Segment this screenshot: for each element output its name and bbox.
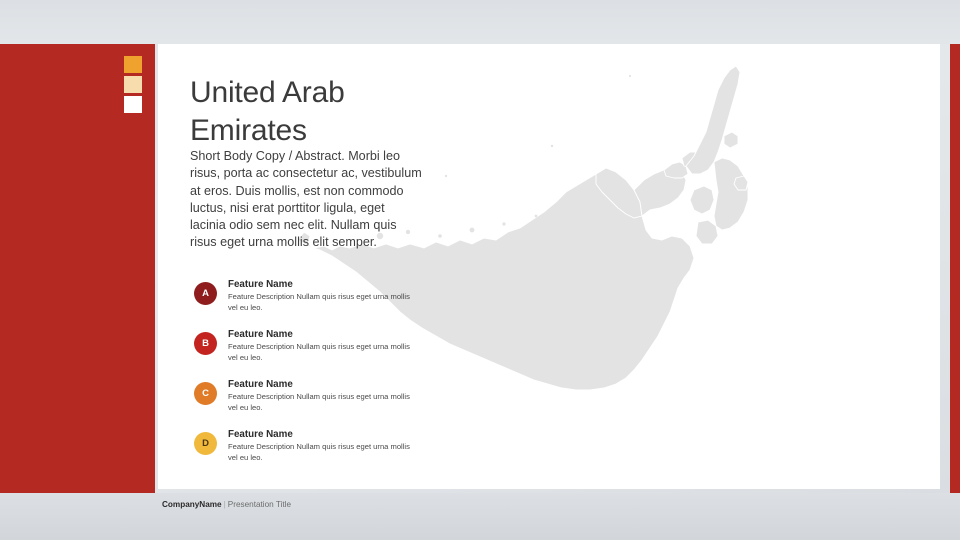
square-orange-icon bbox=[124, 56, 142, 73]
background-top-band bbox=[0, 0, 960, 44]
list-item[interactable]: D Feature Name Feature Description Nulla… bbox=[194, 428, 424, 478]
feature-name: Feature Name bbox=[228, 428, 413, 441]
page-title: United Arab Emirates bbox=[190, 74, 450, 150]
feature-description: Feature Description Nullam quis risus eg… bbox=[228, 442, 413, 463]
footer: CompanyName|Presentation Title bbox=[162, 500, 291, 509]
presentation-slide: United Arab Emirates Short Body Copy / A… bbox=[0, 0, 960, 540]
feature-name: Feature Name bbox=[228, 378, 413, 391]
feature-name: Feature Name bbox=[228, 328, 413, 341]
footer-company: CompanyName bbox=[162, 500, 222, 509]
feature-badge-b: B bbox=[194, 332, 217, 355]
feature-text: Feature Name Feature Description Nullam … bbox=[228, 378, 413, 413]
body-copy: Short Body Copy / Abstract. Morbi leo ri… bbox=[190, 148, 422, 252]
feature-description: Feature Description Nullam quis risus eg… bbox=[228, 342, 413, 363]
feature-list: A Feature Name Feature Description Nulla… bbox=[194, 278, 424, 478]
square-peach-icon bbox=[124, 76, 142, 93]
square-white-icon bbox=[124, 96, 142, 113]
feature-text: Feature Name Feature Description Nullam … bbox=[228, 278, 413, 313]
feature-badge-c: C bbox=[194, 382, 217, 405]
feature-name: Feature Name bbox=[228, 278, 413, 291]
right-red-edge bbox=[950, 44, 960, 493]
feature-badge-a: A bbox=[194, 282, 217, 305]
background-bottom-band bbox=[0, 493, 960, 540]
feature-description: Feature Description Nullam quis risus eg… bbox=[228, 392, 413, 413]
decorative-squares bbox=[124, 56, 142, 116]
list-item[interactable]: A Feature Name Feature Description Nulla… bbox=[194, 278, 424, 328]
feature-text: Feature Name Feature Description Nullam … bbox=[228, 428, 413, 463]
feature-description: Feature Description Nullam quis risus eg… bbox=[228, 292, 413, 313]
list-item[interactable]: C Feature Name Feature Description Nulla… bbox=[194, 378, 424, 428]
feature-text: Feature Name Feature Description Nullam … bbox=[228, 328, 413, 363]
list-item[interactable]: B Feature Name Feature Description Nulla… bbox=[194, 328, 424, 378]
footer-presentation-title: Presentation Title bbox=[228, 500, 291, 509]
feature-badge-d: D bbox=[194, 432, 217, 455]
